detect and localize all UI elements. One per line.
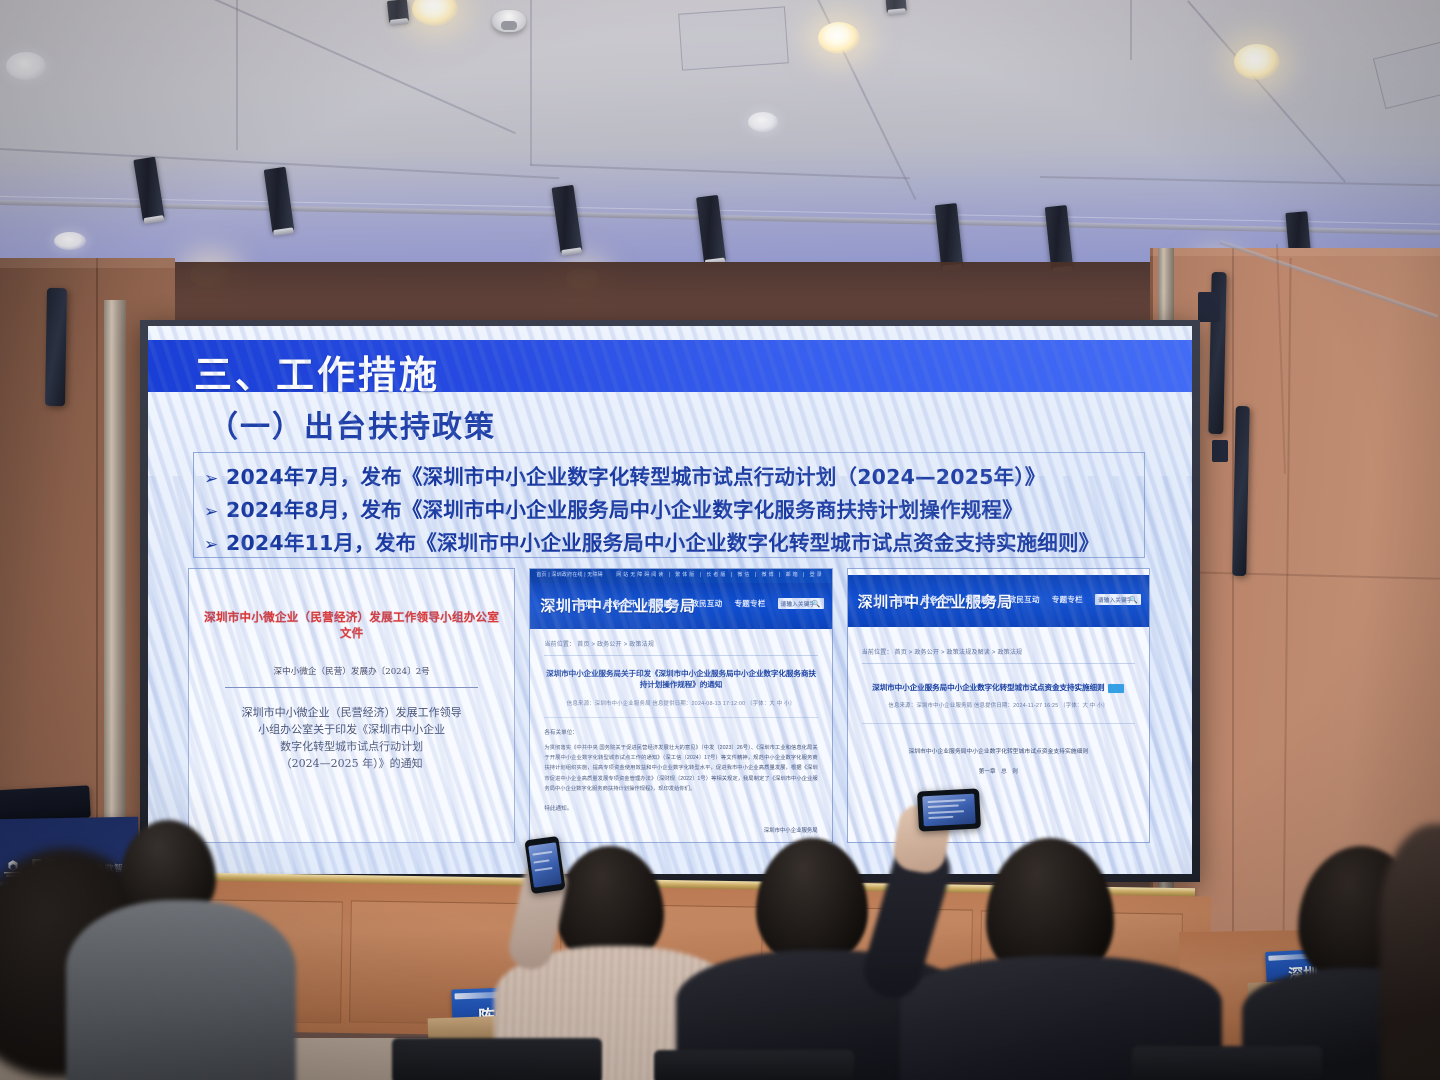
site-article-meta: 信息来源：深圳市中小企业服务局 信息提供日期：2024-11-27 16:25 … xyxy=(862,701,1135,709)
smartphone[interactable] xyxy=(524,836,565,894)
smartphone[interactable] xyxy=(917,788,981,831)
ceiling-downlight xyxy=(6,52,46,80)
site-article-salutation: 各有关单位： xyxy=(544,728,817,736)
bullet-arrow-icon: ➢ xyxy=(204,469,226,489)
wall-speaker-bracket xyxy=(1198,292,1220,322)
slide-bullet-3: 2024年11月，发布《深圳市中小企业服务局中小企业数字化转型城市试点资金支持实… xyxy=(226,531,1099,555)
ceiling-downlight xyxy=(818,22,860,54)
site-article-paragraph: 为贯彻落实《中共中央 国务院关于促进民营经济发展壮大的意见》（中发〔2023〕2… xyxy=(544,743,817,795)
site-nav-item[interactable]: 政务服务 xyxy=(648,598,679,609)
site-topbar-left: 首页 | 深圳政府在线 | 无障碍 xyxy=(536,571,603,578)
track-spotlight xyxy=(885,0,906,13)
led-screen[interactable]: 三、工作措施 （一）出台扶持政策 ➢2024年7月，发布《深圳市中小企业数字化转… xyxy=(148,326,1192,874)
print-icon[interactable] xyxy=(1108,684,1124,693)
ceiling-seam xyxy=(205,0,516,134)
site-article-title: 深圳市中小企业服务局中小企业数字化转型城市试点资金支持实施细则 xyxy=(862,682,1135,693)
slide-thumbnail-row: 深圳市中小微企业（民营经济）发展工作领导小组办公室文件 深中小微企（民营）发展办… xyxy=(188,568,1150,843)
wall-speaker xyxy=(1232,406,1250,576)
site-search-box[interactable]: 请输入关键字 🔍 xyxy=(778,598,824,609)
slide-bullet-1: 2024年7月，发布《深圳市中小企业数字化转型城市试点行动计划（2024—202… xyxy=(226,465,1045,489)
smartphone-screen xyxy=(922,793,976,826)
slide-bullet-2: 2024年8月，发布《深圳市中小企业服务局中小企业数字化服务商扶持计划操作规程》 xyxy=(226,498,1023,522)
wall-seam xyxy=(1282,258,1291,948)
site-nav-item[interactable]: 政民互动 xyxy=(1009,594,1040,605)
site-breadcrumb: 当前位置： 首页 > 政务公开 > 政策法规 xyxy=(544,639,817,648)
chair-back xyxy=(1132,1046,1322,1080)
bullet-arrow-icon: ➢ xyxy=(204,502,226,522)
doc-number: 深中小微企（民营）发展办〔2024〕2号 xyxy=(201,665,502,677)
wall-highlight xyxy=(0,258,175,268)
wall-steel-column xyxy=(104,300,126,900)
slide-bullets-box: ➢2024年7月，发布《深圳市中小企业数字化转型城市试点行动计划（2024—20… xyxy=(193,452,1145,558)
bullet-arrow-icon: ➢ xyxy=(204,535,226,555)
wall-speaker xyxy=(45,288,67,406)
search-icon[interactable]: 🔍 xyxy=(1129,596,1138,604)
site-divider xyxy=(862,663,1135,664)
ceiling-downlight xyxy=(412,0,458,26)
doc-body: 深圳市中小微企业（民营经济）发展工作领导 小组办公室关于印发《深圳市中小企业 数… xyxy=(201,704,502,772)
site-nav-item[interactable]: 首页 xyxy=(895,594,911,605)
site-content: 当前位置： 首页 > 政务公开 > 政策法规 深圳市中小企业服务局关于印发《深圳… xyxy=(530,629,831,843)
ceiling-seam xyxy=(236,0,238,150)
search-icon[interactable]: 🔍 xyxy=(812,600,821,608)
ceiling-vent xyxy=(1373,39,1440,109)
smartphone-screen xyxy=(528,843,562,888)
site-article-closing: 特此通知。 xyxy=(544,804,817,812)
ceiling-seam xyxy=(530,0,532,165)
site-article-meta: 信息来源：深圳市中小企业服务局 信息提供日期：2024-08-13 17:12:… xyxy=(544,699,817,707)
site-article-body-line: 深圳市中小企业服务局中小企业数字化转型城市试点资金支持实施细则 xyxy=(862,746,1135,755)
thumbnail-website-rules[interactable]: 深圳市中小企业服务局 首页 政务公开 政务服务 政民互动 专题专栏 请输入关键字… xyxy=(847,568,1150,843)
wall-speaker-bracket xyxy=(1212,440,1228,462)
site-navbar: 深圳市中小企业服务局 首页 政务公开 政务服务 政民互动 专题专栏 请输入关键字… xyxy=(530,583,831,629)
slide-title: 三、工作措施 xyxy=(194,344,440,399)
ceiling-vent xyxy=(678,6,789,70)
ceiling-seam xyxy=(1130,0,1132,60)
site-divider xyxy=(544,655,817,656)
site-nav-items: 首页 政务公开 政务服务 政民互动 专题专栏 请输入关键字 🔍 xyxy=(895,594,1141,605)
site-search-box[interactable]: 请输入关键字 🔍 xyxy=(1095,594,1141,605)
site-nav-item[interactable]: 政务服务 xyxy=(965,594,996,605)
conduit-pipe xyxy=(1276,244,1286,474)
site-divider xyxy=(544,717,817,718)
site-search-placeholder: 请输入关键字 xyxy=(1098,596,1133,604)
doc-body-line: （2024—2025 年）》的通知 xyxy=(201,755,502,772)
wall-highlight xyxy=(1150,248,1440,256)
site-article-title-text: 深圳市中小企业服务局中小企业数字化转型城市试点资金支持实施细则 xyxy=(872,683,1104,692)
site-nav-items: 首页 政务公开 政务服务 政民互动 专题专栏 请输入关键字 🔍 xyxy=(577,598,823,609)
audience-body xyxy=(66,900,296,1080)
slide-title-band: 三、工作措施 xyxy=(148,340,1192,392)
presentation-slide: 三、工作措施 （一）出台扶持政策 ➢2024年7月，发布《深圳市中小企业数字化转… xyxy=(148,326,1192,874)
wall-seam xyxy=(96,258,98,898)
chair-back xyxy=(392,1038,602,1080)
site-divider xyxy=(862,723,1135,724)
doc-divider xyxy=(225,687,478,688)
site-topbar-right: 网站无障碍阅读 | 繁体版 | 长者版 | 微信 | 微博 | 邮箱 | 登录 xyxy=(616,571,823,578)
site-article-body-line2: 第一章 总 则 xyxy=(862,767,1135,775)
track-spotlight xyxy=(387,0,409,23)
chair-back xyxy=(654,1050,854,1080)
site-article-date: 2024年8月13日 xyxy=(544,841,817,843)
site-nav-item[interactable]: 专题专栏 xyxy=(734,598,765,609)
slide-subtitle: （一）出台扶持政策 xyxy=(208,402,496,446)
photo-scene: 三、工作措施 （一）出台扶持政策 ➢2024年7月，发布《深圳市中小企业数字化转… xyxy=(0,0,1440,1080)
site-navbar: 深圳市中小企业服务局 首页 政务公开 政务服务 政民互动 专题专栏 请输入关键字… xyxy=(848,575,1149,627)
site-article-title: 深圳市中小企业服务局关于印发《深圳市中小企业服务局中小企业数字化服务商扶持计划操… xyxy=(544,668,817,691)
doc-body-line: 数字化转型城市试点行动计划 xyxy=(201,738,502,755)
site-nav-item[interactable]: 专题专栏 xyxy=(1052,594,1083,605)
thumbnail-official-document[interactable]: 深圳市中小微企业（民营经济）发展工作领导小组办公室文件 深中小微企（民营）发展办… xyxy=(188,568,515,843)
ceiling-downlight xyxy=(54,232,86,250)
thumbnail-website-notice[interactable]: 首页 | 深圳政府在线 | 无障碍 网站无障碍阅读 | 繁体版 | 长者版 | … xyxy=(529,568,832,843)
site-article-signer: 深圳市中小企业服务局 xyxy=(544,826,817,834)
ceiling-downlight xyxy=(1234,44,1280,80)
site-nav-item[interactable]: 政务公开 xyxy=(605,598,636,609)
site-nav-item[interactable]: 首页 xyxy=(577,598,593,609)
site-content: 当前位置： 首页 > 政务公开 > 政策法规及解读 > 政策法规 深圳市中小企业… xyxy=(848,627,1149,785)
site-breadcrumb: 当前位置： 首页 > 政务公开 > 政策法规及解读 > 政策法规 xyxy=(862,647,1135,656)
smoke-detector-icon xyxy=(492,10,526,32)
doc-body-line: 深圳市中小微企业（民营经济）发展工作领导 xyxy=(201,704,502,721)
site-nav-item[interactable]: 政民互动 xyxy=(691,598,722,609)
doc-red-header: 深圳市中小微企业（民营经济）发展工作领导小组办公室文件 xyxy=(201,609,502,641)
site-topbar: 首页 | 深圳政府在线 | 无障碍 网站无障碍阅读 | 繁体版 | 长者版 | … xyxy=(530,569,831,583)
site-search-placeholder: 请输入关键字 xyxy=(781,600,816,608)
ceiling-downlight xyxy=(748,112,778,132)
site-nav-item[interactable]: 政务公开 xyxy=(922,594,953,605)
doc-body-line: 小组办公室关于印发《深圳市中小企业 xyxy=(201,721,502,738)
wall-seam xyxy=(1232,248,1234,948)
